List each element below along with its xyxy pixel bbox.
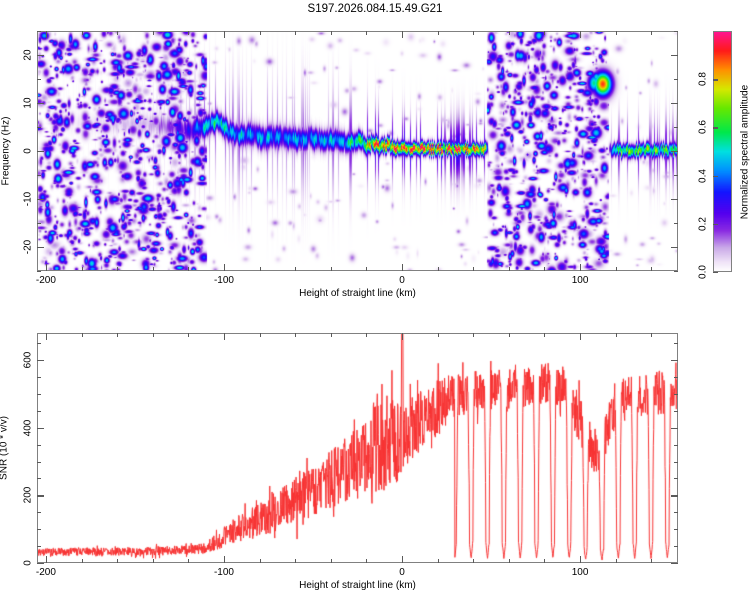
colorbar-tick-label: 0.2 [698,217,709,231]
axis-tick [366,333,367,337]
axis-tick [671,360,678,361]
axis-tick [331,559,332,563]
axis-tick [37,563,44,564]
axis-tick [37,127,41,128]
axis-tick [438,333,439,337]
axis-tick [402,556,403,563]
axis-tick [188,559,189,563]
colorbar-tick-label: 0.8 [698,72,709,86]
axis-tick [37,495,44,496]
axis-tick [37,55,44,56]
axis-tick [674,478,678,479]
axis-tick [671,247,678,248]
axis-tick [671,428,678,429]
axis-tick [616,333,617,337]
axis-tick [671,151,678,152]
axis-tick [509,333,510,337]
axis-tick [402,333,403,340]
axis-tick [674,529,678,530]
axis-tick-label: -200 [36,275,56,286]
colorbar-tick [713,127,718,128]
axis-tick [37,271,41,272]
axis-tick [674,175,678,176]
axis-tick [37,512,41,513]
axis-tick [580,556,581,563]
axis-tick [544,31,545,35]
spectrogram-x-axis-label: Height of straight line (km) [299,288,416,299]
axis-tick [82,31,83,35]
axis-tick [153,333,154,337]
axis-tick-label: 0 [23,560,34,566]
axis-tick [651,267,652,271]
axis-tick [153,31,154,35]
axis-tick [331,31,332,35]
axis-tick [37,529,41,530]
axis-tick-label: 200 [23,487,34,504]
axis-tick [46,556,47,563]
axis-tick [37,462,41,463]
spectrogram-y-axis-label: Frequency (Hz) [1,117,12,186]
axis-tick [674,411,678,412]
axis-tick [37,247,44,248]
axis-tick [295,31,296,35]
axis-tick [46,31,47,38]
axis-tick [37,445,41,446]
axis-tick [37,103,44,104]
axis-tick [671,199,678,200]
axis-tick [224,556,225,563]
axis-tick-label: 0 [399,275,405,286]
axis-tick [37,360,44,361]
axis-tick [37,343,41,344]
axis-tick [331,267,332,271]
axis-tick [37,411,41,412]
axis-tick [153,559,154,563]
axis-tick [37,428,44,429]
axis-tick-label: 0 [23,148,34,154]
axis-tick [82,333,83,337]
axis-tick [509,267,510,271]
snr-x-axis-label: Height of straight line (km) [299,580,416,591]
axis-tick [37,199,44,200]
axis-tick [295,559,296,563]
axis-tick [674,223,678,224]
axis-tick [674,377,678,378]
axis-tick-label: 600 [23,352,34,369]
axis-tick-label: 10 [23,97,34,108]
axis-tick [674,462,678,463]
axis-tick-label: -100 [214,567,234,578]
axis-tick [651,559,652,563]
snr-y-axis-label: SNR (10 * v/v) [0,416,10,480]
colorbar-tick-label: 0.4 [698,169,709,183]
axis-tick [616,559,617,563]
axis-tick [37,151,44,152]
axis-tick [331,333,332,337]
axis-tick [46,264,47,271]
axis-tick [674,343,678,344]
axis-tick-label: -10 [23,192,34,206]
colorbar-tick-label: 0.0 [698,265,709,279]
axis-tick [153,267,154,271]
axis-tick [674,445,678,446]
axis-tick [37,31,41,32]
axis-tick [46,333,47,340]
axis-tick-label: 0 [399,567,405,578]
colorbar-tick [713,176,718,177]
axis-tick [295,267,296,271]
axis-tick [651,31,652,35]
axis-tick [295,333,296,337]
axis-tick [37,377,41,378]
axis-tick [117,31,118,35]
page-title: S197.2026.084.15.49.G21 [0,3,750,15]
axis-tick [674,394,678,395]
axis-tick-label: 20 [23,49,34,60]
axis-tick [37,546,41,547]
colorbar-label: Normalized spectral amplitude [740,84,750,219]
axis-tick [260,559,261,563]
axis-tick [580,31,581,38]
axis-tick-label: -20 [23,240,34,254]
figure-root: S197.2026.084.15.49.G21 -200-1000100-20-… [0,0,750,600]
axis-tick [674,127,678,128]
axis-tick [366,559,367,563]
axis-tick [671,55,678,56]
axis-tick [438,559,439,563]
axis-tick [674,79,678,80]
axis-tick [580,264,581,271]
axis-tick [674,31,678,32]
colorbar-tick-label: 0.6 [698,120,709,134]
axis-tick [224,31,225,38]
axis-tick [674,546,678,547]
axis-tick [188,267,189,271]
axis-tick [37,175,41,176]
spectrogram-canvas [37,31,678,271]
axis-tick-label: 100 [572,567,589,578]
axis-tick [402,31,403,38]
axis-tick [651,333,652,337]
axis-tick [473,333,474,337]
axis-tick [544,559,545,563]
axis-tick [473,559,474,563]
axis-tick-label: 400 [23,419,34,436]
axis-tick [117,559,118,563]
axis-tick [188,333,189,337]
axis-tick [37,394,41,395]
axis-tick [616,267,617,271]
axis-tick [224,333,225,340]
axis-tick [37,478,41,479]
colorbar-tick [713,224,718,225]
axis-tick [402,264,403,271]
axis-tick [188,31,189,35]
axis-tick [366,267,367,271]
axis-tick [473,31,474,35]
colorbar-tick [713,272,718,273]
axis-tick [509,31,510,35]
axis-tick-label: -200 [36,567,56,578]
axis-tick [117,333,118,337]
axis-tick [224,264,225,271]
axis-tick-label: -100 [214,275,234,286]
axis-tick [544,267,545,271]
axis-tick [37,223,41,224]
axis-tick [82,559,83,563]
axis-tick [438,31,439,35]
snr-canvas [37,333,678,563]
axis-tick [82,267,83,271]
axis-tick [260,267,261,271]
colorbar-tick [713,79,718,80]
axis-tick [580,333,581,340]
axis-tick [37,79,41,80]
axis-tick-label: 100 [572,275,589,286]
axis-tick [438,267,439,271]
axis-tick [509,559,510,563]
axis-tick [671,103,678,104]
colorbar-gradient [713,31,732,272]
axis-tick [671,495,678,496]
axis-tick [671,563,678,564]
axis-tick [674,271,678,272]
axis-tick [117,267,118,271]
axis-tick [544,333,545,337]
axis-tick [674,512,678,513]
axis-tick [260,333,261,337]
axis-tick [366,31,367,35]
axis-tick [260,31,261,35]
axis-tick [473,267,474,271]
axis-tick [616,31,617,35]
